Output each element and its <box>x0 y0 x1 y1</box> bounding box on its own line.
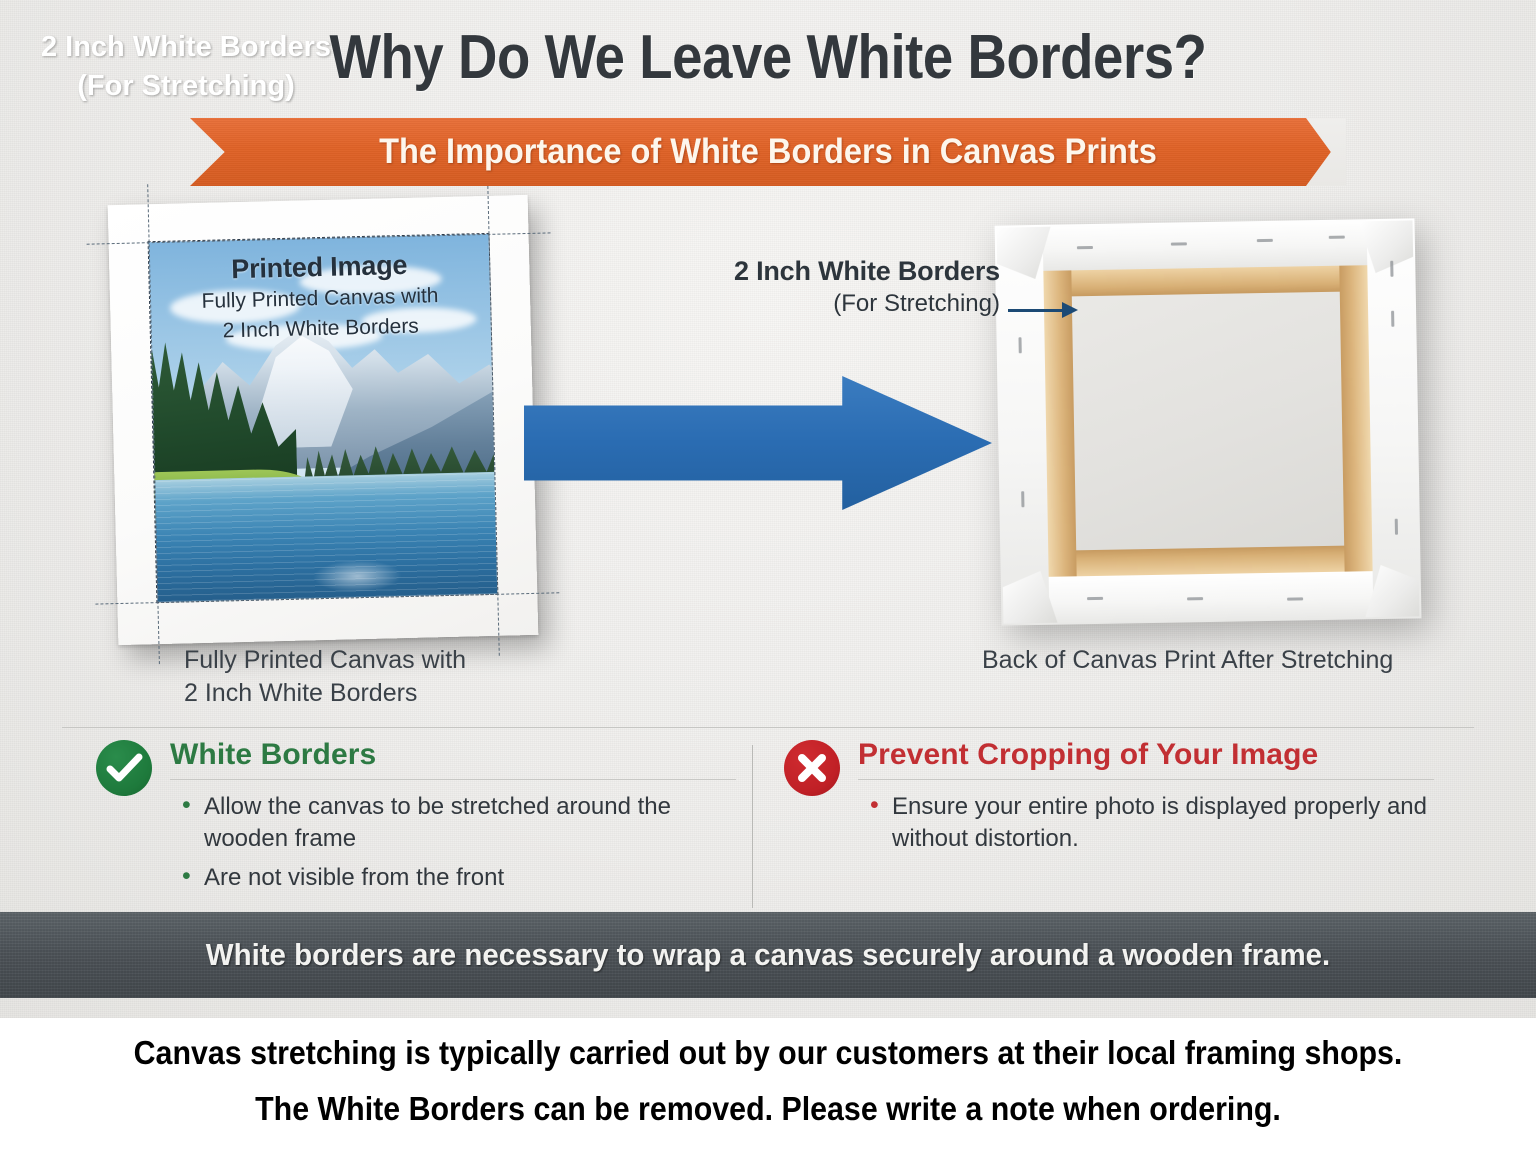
blue-arrow-label: 2 Inch White Borders (For Stretching) <box>26 28 346 105</box>
benefit-list-left: Allow the canvas to be stretched around … <box>182 791 736 894</box>
subtitle-text: The Importance of White Borders in Canva… <box>230 118 1305 186</box>
staple-icon <box>1257 239 1273 242</box>
callout-arrow-icon <box>1062 302 1078 318</box>
benefit-heading-right: Prevent Cropping of Your Image <box>858 738 1434 772</box>
section-divider-vertical <box>752 745 753 908</box>
summary-bar: White borders are necessary to wrap a ca… <box>0 912 1536 998</box>
staple-icon <box>1329 236 1345 239</box>
subtitle-ribbon: The Importance of White Borders in Canva… <box>190 118 1346 186</box>
staple-icon <box>1018 337 1021 353</box>
ribbon-right-notch <box>1306 118 1346 186</box>
wrapped-canvas-edge-top <box>995 218 1416 271</box>
x-circle-icon <box>784 740 840 796</box>
lake-water <box>154 471 497 602</box>
check-circle-icon <box>96 740 152 796</box>
list-item: Ensure your entire photo is displayed pr… <box>870 791 1434 855</box>
callout-line2: (For Stretching) <box>700 290 1000 318</box>
heading-rule-right <box>858 779 1434 780</box>
check-mark-glyph <box>96 740 152 796</box>
wrapped-canvas-edge-left <box>995 225 1050 626</box>
summary-bar-text: White borders are necessary to wrap a ca… <box>38 912 1497 998</box>
frame-inner-canvas <box>1041 263 1374 579</box>
bottom-note-line2: The White Borders can be removed. Please… <box>61 1081 1474 1137</box>
benefit-column-white-borders: White Borders Allow the canvas to be str… <box>96 738 736 901</box>
staple-icon <box>1087 597 1103 600</box>
heading-rule-left <box>170 779 736 780</box>
bottom-note: Canvas stretching is typically carried o… <box>61 1025 1474 1137</box>
printed-photo: Printed Image Fully Printed Canvas with … <box>149 234 498 602</box>
section-divider-horizontal <box>62 727 1474 728</box>
benefit-list-right: Ensure your entire photo is displayed pr… <box>870 791 1434 855</box>
caption-left-line1: Fully Printed Canvas with <box>184 644 466 677</box>
staple-icon <box>1391 311 1394 327</box>
staple-icon <box>1077 246 1093 249</box>
photo-overlay-text: Printed Image Fully Printed Canvas with … <box>149 248 491 347</box>
callout-line1: 2 Inch White Borders <box>700 256 1000 287</box>
staple-icon <box>1287 597 1303 600</box>
wrapped-canvas-edge-right <box>1366 218 1421 619</box>
canvas-back-illustration <box>995 218 1422 625</box>
water-reflection <box>313 559 402 593</box>
arrow-label-line2: (For Stretching) <box>26 67 346 106</box>
x-mark-glyph <box>784 740 840 796</box>
bottom-note-line1: Canvas stretching is typically carried o… <box>61 1025 1474 1081</box>
staple-icon <box>1390 261 1393 277</box>
canvas-back-caption: Back of Canvas Print After Stretching <box>982 644 1393 677</box>
benefit-column-prevent-cropping: Prevent Cropping of Your Image Ensure yo… <box>784 738 1434 862</box>
staple-icon <box>1171 242 1187 245</box>
infographic-body: Why Do We Leave White Borders? The Impor… <box>0 0 1536 1018</box>
blue-arrow-shape <box>524 376 992 510</box>
arrow-label-line1: 2 Inch White Borders <box>26 28 346 67</box>
list-item: Are not visible from the front <box>182 862 736 894</box>
callout-leader-line <box>1008 309 1070 312</box>
staple-icon <box>1187 597 1203 600</box>
printed-canvas-caption: Fully Printed Canvas with 2 Inch White B… <box>184 644 466 710</box>
benefit-heading-left: White Borders <box>170 738 736 772</box>
printed-canvas-illustration: Printed Image Fully Printed Canvas with … <box>108 195 539 645</box>
infographic-page: Why Do We Leave White Borders? The Impor… <box>0 0 1536 1159</box>
staple-icon <box>1395 519 1398 535</box>
caption-left-line2: 2 Inch White Borders <box>184 677 466 710</box>
wrapped-canvas-edge-bottom <box>1001 570 1422 625</box>
staple-icon <box>1021 491 1024 507</box>
list-item: Allow the canvas to be stretched around … <box>182 791 736 855</box>
border-callout: 2 Inch White Borders (For Stretching) <box>700 256 1000 318</box>
